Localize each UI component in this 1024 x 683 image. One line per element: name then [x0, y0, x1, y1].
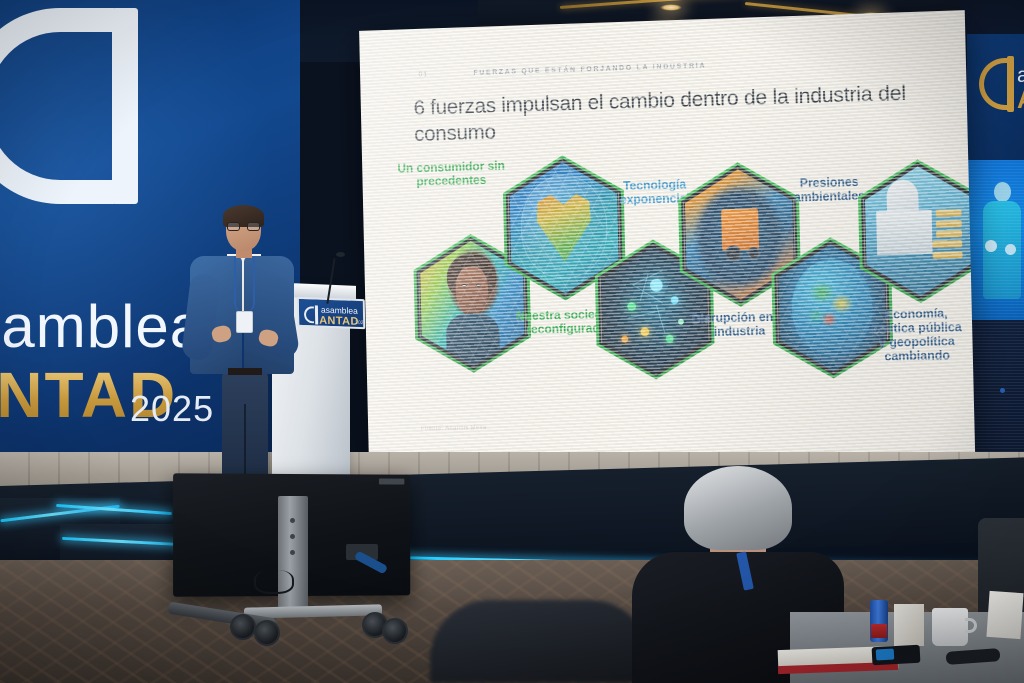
- antad-bar-logo-icon: [112, 8, 138, 204]
- paper-carton: [894, 604, 924, 646]
- banner-asamblea-text: asa: [1017, 64, 1024, 88]
- printed-card: [986, 591, 1023, 639]
- stand-caster-wheel: [382, 618, 408, 644]
- phone-screen: [876, 649, 895, 661]
- speaker-belt: [228, 368, 262, 375]
- led-pixel-dot: [1000, 388, 1005, 393]
- right-brand-banner: asa ANT: [967, 34, 1024, 160]
- speaker-lanyard: [234, 256, 255, 312]
- hexagon-diagram: Un consumidor sin precedentes Nuestra so…: [359, 10, 975, 468]
- live-camera-feed-panel: [967, 160, 1024, 320]
- feed-speaker-figure: [981, 182, 1021, 306]
- speaker-leg-split: [244, 404, 246, 476]
- monitor-cable: [254, 570, 294, 594]
- podium-antad-text: ANTAD: [319, 315, 359, 328]
- podium-brand-sign: asamblea ANTAD 2025: [297, 297, 366, 329]
- hexagon-label-6: Economía, política pública y geopolítica…: [867, 306, 967, 364]
- antad-arc-logo-icon: [304, 306, 314, 323]
- main-led-presentation-screen: 01 FUERZAS QUE ESTÁN FORJANDO LA INDUSTR…: [359, 10, 975, 468]
- conference-stage-scene: asamblea ANTAD 2025 asa ANT 01 FUERZAS Q…: [0, 0, 1024, 683]
- can-label: [871, 624, 887, 638]
- microphone-head-icon: [336, 252, 345, 257]
- feed-head: [994, 182, 1011, 202]
- backdrop-asamblea-text: asamblea: [0, 292, 204, 361]
- attendee-hair: [684, 466, 792, 550]
- confidence-monitor-rear: [168, 472, 424, 677]
- slide-surface: 01 FUERZAS QUE ESTÁN FORJANDO LA INDUSTR…: [359, 10, 975, 468]
- ceiling-accent-line: [560, 0, 859, 9]
- speaker-figure: [182, 208, 300, 476]
- downlight-icon: [660, 4, 682, 11]
- feed-hand: [985, 240, 997, 252]
- capitol-coins-icon: [864, 165, 974, 297]
- feed-hand: [1005, 244, 1016, 255]
- foreground-attendee-silhouette: [430, 600, 650, 683]
- monitor-spec-label: [379, 478, 404, 484]
- eyeglasses-icon: [227, 222, 260, 231]
- banner-antad-text: ANT: [1017, 86, 1024, 115]
- stand-caster-wheel: [230, 614, 256, 640]
- lower-led-panel: [967, 320, 1024, 470]
- antad-bar-logo-icon: [1007, 56, 1014, 112]
- stand-caster-wheel: [254, 620, 280, 646]
- antad-bar-logo-icon: [315, 305, 318, 324]
- antad-arc-logo-icon: [0, 8, 114, 204]
- hexagon-label-1: Un consumidor sin precedentes: [396, 159, 507, 189]
- speaker-badge: [236, 311, 253, 333]
- podium-year-text: 2025: [355, 320, 365, 326]
- antad-arc-logo-icon: [979, 58, 1009, 110]
- coffee-cup: [932, 608, 968, 646]
